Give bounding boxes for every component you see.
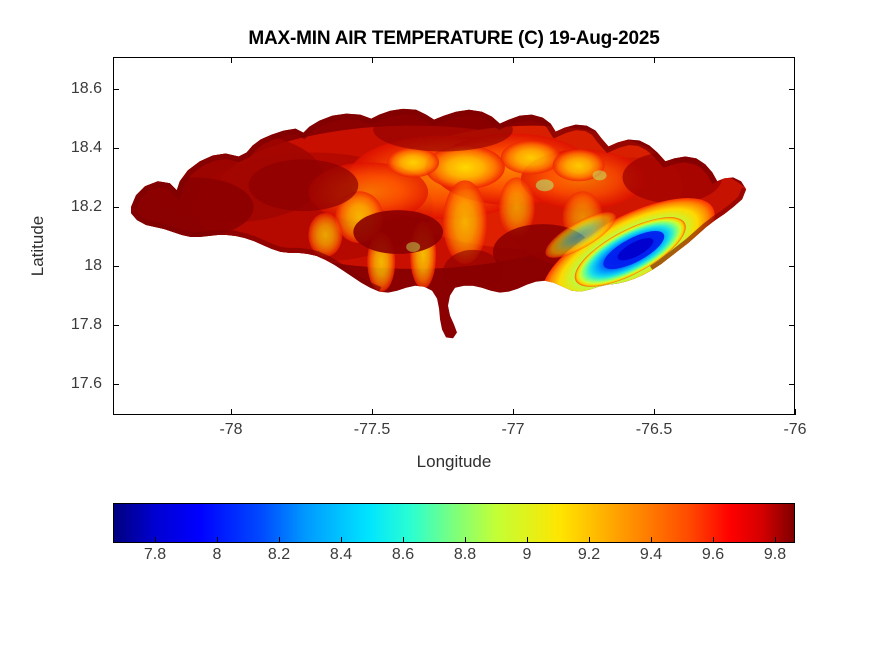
page-title: MAX-MIN AIR TEMPERATURE (C) 19-Aug-2025 xyxy=(113,28,795,50)
x-tick-mark xyxy=(513,409,514,415)
island-raster xyxy=(114,58,794,414)
y-tick-mark xyxy=(113,148,119,149)
colorbar-tick-mark xyxy=(403,537,404,543)
colorbar-tick-mark xyxy=(589,537,590,543)
colorbar-tick-mark xyxy=(155,537,156,543)
x-tick-label: -76.5 xyxy=(636,421,672,439)
colorbar-tick-label: 8 xyxy=(213,546,222,564)
y-tick-mark xyxy=(789,325,795,326)
y-tick-mark xyxy=(113,266,119,267)
x-tick-label: -77 xyxy=(501,421,524,439)
x-tick-mark xyxy=(795,409,796,415)
colorbar-tick-label: 9.4 xyxy=(640,546,662,564)
x-axis-title: Longitude xyxy=(113,452,795,472)
colorbar-tick-label: 8.8 xyxy=(454,546,476,564)
colorbar-tick-label: 8.2 xyxy=(268,546,290,564)
colorbar-tick-label: 9.2 xyxy=(578,546,600,564)
y-tick-mark xyxy=(789,207,795,208)
y-tick-mark xyxy=(113,384,119,385)
colorbar-tick-mark xyxy=(713,537,714,543)
y-tick-label: 18.6 xyxy=(40,80,102,98)
x-tick-label: -78 xyxy=(219,421,242,439)
colorbar-tick-mark xyxy=(279,537,280,543)
y-tick-mark xyxy=(113,207,119,208)
colorbar-tick-label: 9.8 xyxy=(764,546,786,564)
colorbar-tick-mark xyxy=(527,537,528,543)
colorbar-tick-mark xyxy=(341,537,342,543)
y-tick-mark xyxy=(789,89,795,90)
x-tick-mark xyxy=(654,57,655,63)
x-tick-label: -77.5 xyxy=(354,421,390,439)
y-tick-mark xyxy=(113,325,119,326)
y-tick-label: 18.4 xyxy=(40,139,102,157)
y-tick-label: 17.6 xyxy=(40,375,102,393)
y-tick-mark xyxy=(789,384,795,385)
y-axis-title: Latitude xyxy=(28,186,48,306)
colorbar-tick-label: 8.6 xyxy=(392,546,414,564)
y-tick-label: 17.8 xyxy=(40,316,102,334)
figure-canvas: MAX-MIN AIR TEMPERATURE (C) 19-Aug-2025 xyxy=(0,0,875,656)
colorbar[interactable] xyxy=(113,503,795,543)
colorbar-tick-mark xyxy=(217,537,218,543)
x-tick-mark xyxy=(372,409,373,415)
y-tick-label: 18 xyxy=(40,257,102,275)
colorbar-tick-mark xyxy=(465,537,466,543)
colorbar-tick-label: 8.4 xyxy=(330,546,352,564)
x-tick-mark xyxy=(513,57,514,63)
x-tick-mark xyxy=(372,57,373,63)
map-axes[interactable] xyxy=(113,57,795,415)
temperature-heatmap xyxy=(114,58,794,414)
x-tick-mark xyxy=(231,409,232,415)
colorbar-gradient xyxy=(113,503,795,543)
y-tick-mark xyxy=(789,266,795,267)
colorbar-tick-label: 9 xyxy=(523,546,532,564)
x-tick-label: -76 xyxy=(783,421,806,439)
x-tick-mark xyxy=(654,409,655,415)
y-tick-mark xyxy=(113,89,119,90)
colorbar-tick-mark xyxy=(651,537,652,543)
colorbar-tick-label: 7.8 xyxy=(144,546,166,564)
colorbar-tick-label: 9.6 xyxy=(702,546,724,564)
x-tick-mark xyxy=(231,57,232,63)
colorbar-tick-mark xyxy=(775,537,776,543)
y-tick-mark xyxy=(789,148,795,149)
y-tick-label: 18.2 xyxy=(40,198,102,216)
